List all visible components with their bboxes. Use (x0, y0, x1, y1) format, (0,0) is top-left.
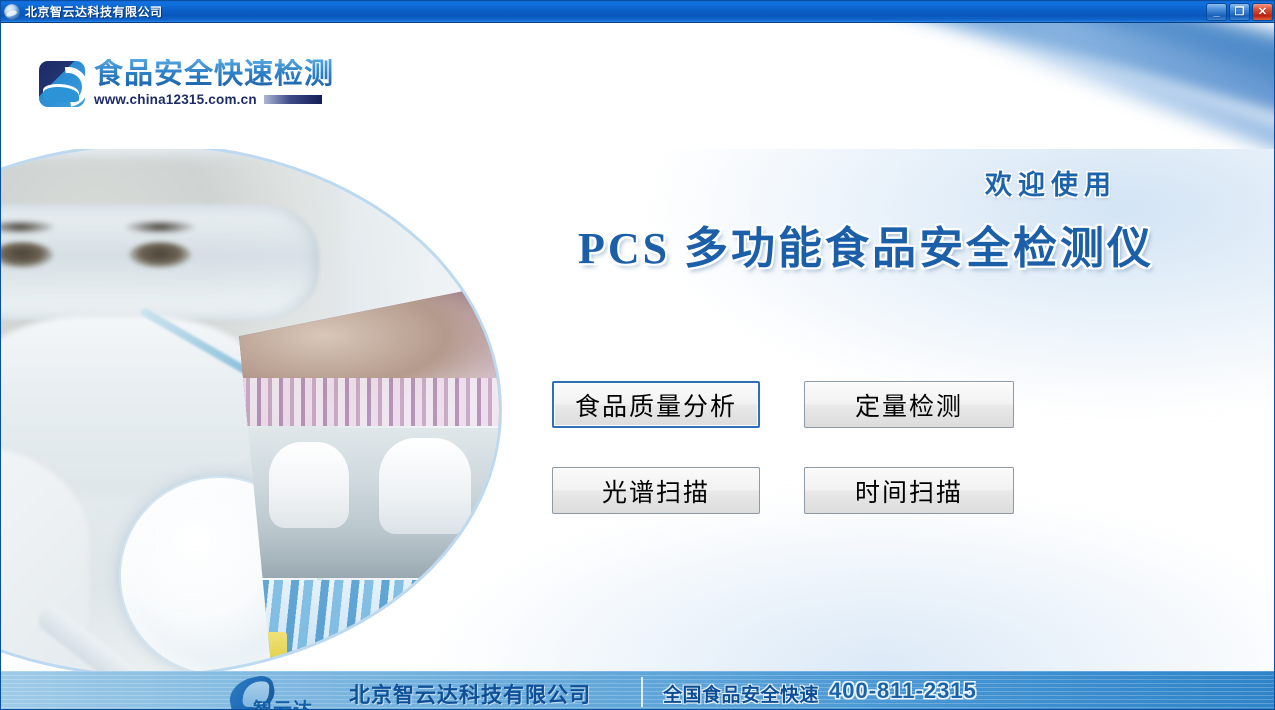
footer-logo-text: 智云达 (253, 695, 313, 710)
restore-icon: ❐ (1230, 4, 1249, 20)
minimize-button[interactable]: _ (1206, 3, 1227, 21)
product-title: PCS 多功能食品安全检测仪 (471, 212, 1261, 276)
close-icon: ✕ (1253, 4, 1272, 20)
header-band: 食品安全快速检测 www.china12315.com.cn (1, 23, 1275, 149)
window-titlebar[interactable]: 北京智云达科技有限公司 _ ❐ ✕ (1, 1, 1275, 23)
photo-eye-right (129, 242, 191, 268)
background-wash-bottom (431, 491, 1275, 671)
photo-brow-right (125, 220, 195, 234)
application-window: 北京智云达科技有限公司 _ ❐ ✕ 食品安全快速检测 www.china1231… (0, 0, 1275, 710)
brand-url-bar (264, 95, 322, 104)
minimize-icon: _ (1207, 4, 1226, 20)
food-quality-analysis-button[interactable]: 食品质量分析 (552, 381, 760, 428)
window-title: 北京智云达科技有限公司 (25, 3, 163, 20)
footer-hotline-number: 400-811-2315 (829, 678, 977, 704)
globe-icon (4, 4, 20, 20)
brand-logo-text: 食品安全快速检测 www.china12315.com.cn (94, 59, 334, 107)
close-button[interactable]: ✕ (1252, 3, 1273, 21)
main-stage: 欢迎使用 PCS 多功能食品安全检测仪 食品质量分析 定量检测 光谱扫描 时间扫… (1, 149, 1275, 671)
photo-strip-group (239, 276, 502, 671)
photo-strip-lab-workers (239, 428, 502, 578)
photo-strip-test-tubes (239, 580, 502, 671)
photo-flask-purple (421, 658, 455, 671)
hero-title-block: 欢迎使用 PCS 多功能食品安全检测仪 (471, 163, 1261, 276)
action-button-grid: 食品质量分析 定量检测 光谱扫描 时间扫描 (552, 381, 1014, 514)
brand-url: www.china12315.com.cn (94, 92, 257, 107)
footer-band: 智云达 北京智云达科技有限公司 全国食品安全快速 400-811-2315 (1, 671, 1275, 710)
footer-divider (641, 677, 643, 707)
brand-title: 食品安全快速检测 (94, 59, 334, 89)
wave-logo-icon (39, 61, 85, 107)
hero-photo-collage (1, 149, 502, 671)
brand-logo: 食品安全快速检测 www.china12315.com.cn (39, 59, 334, 107)
brand-url-row: www.china12315.com.cn (94, 92, 334, 107)
footer-hotline-label: 全国食品安全快速 (663, 680, 819, 707)
window-controls: _ ❐ ✕ (1206, 3, 1273, 21)
restore-button[interactable]: ❐ (1229, 3, 1250, 21)
footer-company-name: 北京智云达科技有限公司 (349, 679, 591, 709)
quantitative-detection-button[interactable]: 定量检测 (804, 381, 1014, 428)
welcome-text: 欢迎使用 (841, 163, 1261, 202)
photo-test-tube-blue (483, 620, 499, 671)
spectrum-scan-button[interactable]: 光谱扫描 (552, 467, 760, 514)
zhiyunda-swoosh-icon: 智云达 (223, 676, 353, 710)
time-scan-button[interactable]: 时间扫描 (804, 467, 1014, 514)
